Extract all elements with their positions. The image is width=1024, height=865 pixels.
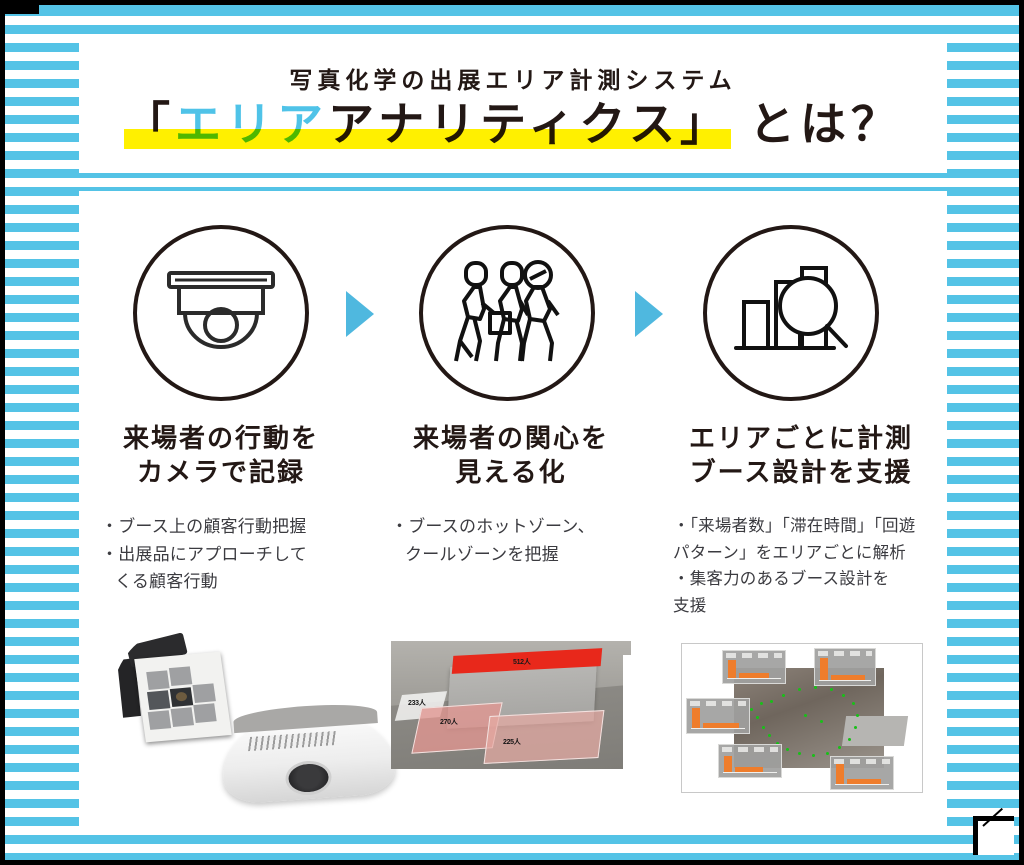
bullet-marker: ・ [101,517,118,536]
bullet-item: ・出展品にアプローチして [101,541,361,569]
metric-popup-card[interactable] [718,744,782,778]
page-title: 「エリアアナリティクス」 とは？ [124,101,902,147]
column-3-heading: エリアごとに計測 ブース設計を支援 [656,421,946,490]
warm-zone-area [484,710,605,764]
zone-count-label: 225人 [503,737,520,747]
bullet-continuation: クールゾーンを把握 [391,541,651,569]
corner-fold-mark [973,816,1014,855]
visitors-walking-icon [419,225,595,401]
metric-popup-card[interactable] [686,698,750,734]
zone-count-label: 270人 [440,717,457,727]
metric-popup-card[interactable] [722,650,786,684]
title-card: 写真化学の出展エリア計測システム 「エリアアナリティクス」 とは？ [79,43,947,173]
subtitle-text: 写真化学の出展エリア計測システム [289,69,736,92]
bullet-text: ブース上の顧客行動把握 [118,517,306,536]
bullet-continuation: パターン」をエリアごとに解析 [673,540,941,567]
bullet-item: ・集客力のあるブース設計を [673,566,941,593]
frame-notch-top-left [5,5,39,14]
camera-hardware-photo [104,625,376,805]
title-open-bracket: 「 [124,98,175,150]
column-1-bullets: ・ブース上の顧客行動把握 ・出展品にアプローチして くる顧客行動 [101,513,361,596]
title-accent-word: エリア [175,98,328,150]
metric-popup-card[interactable] [830,756,894,790]
title-main-word: アナリティクス [328,98,680,150]
bullet-text: 出展品にアプローチして [118,545,307,564]
bullet-item: ・ブースのホットゾーン、 [391,513,651,541]
bullet-item: ・ブース上の顧客行動把握 [101,513,361,541]
booth-zone-heatmap-photo: 512人 233人 270人 225人 [391,641,631,769]
analytics-dashboard-photo [681,643,923,793]
icon-steps-row [79,225,947,405]
zone-count-label: 512人 [513,657,530,667]
bullet-marker: ・ [101,545,118,564]
bullet-text: 「来場者数」「滞在時間」「回遊 [690,517,916,535]
bar-chart-magnifier-icon [703,225,879,401]
title-highlight-group: 「エリアアナリティクス」 [124,101,731,147]
bullet-continuation: 支援 [673,593,941,620]
camera-mount-plate [134,652,231,743]
column-2-bullets: ・ブースのホットゾーン、 クールゾーンを把握 [391,513,651,568]
bullet-continuation: くる顧客行動 [101,568,361,596]
dome-security-camera-icon [133,225,309,401]
poster-frame: 写真化学の出展エリア計測システム 「エリアアナリティクス」 とは？ [0,0,1024,865]
title-close-bracket: 」 [680,98,731,150]
arrow-step-2-to-3 [635,291,663,337]
main-content-card: 来場者の行動を カメラで記録 来場者の関心を 見える化 エリアごとに計測 ブース… [79,191,947,833]
bullet-marker: ・ [673,517,690,535]
column-1-heading: 来場者の行動を カメラで記録 [76,421,366,490]
bullet-marker: ・ [391,517,408,536]
metric-popup-card[interactable] [814,648,876,686]
bullet-item: ・「来場者数」「滞在時間」「回遊 [673,513,941,540]
title-tail: とは？ [749,101,902,147]
bullet-text: ブースのホットゾーン、 [408,517,594,536]
column-3-bullets: ・「来場者数」「滞在時間」「回遊 パターン」をエリアごとに解析 ・集客力のあるブ… [673,513,941,620]
ceiling-camera-device [219,707,397,805]
column-2-heading: 来場者の関心を 見える化 [366,421,656,490]
arrow-step-1-to-2 [346,291,374,337]
zone-count-label: 233人 [408,698,425,708]
bullet-marker: ・ [673,570,690,588]
bullet-text: 集客力のあるブース設計を [690,570,890,588]
